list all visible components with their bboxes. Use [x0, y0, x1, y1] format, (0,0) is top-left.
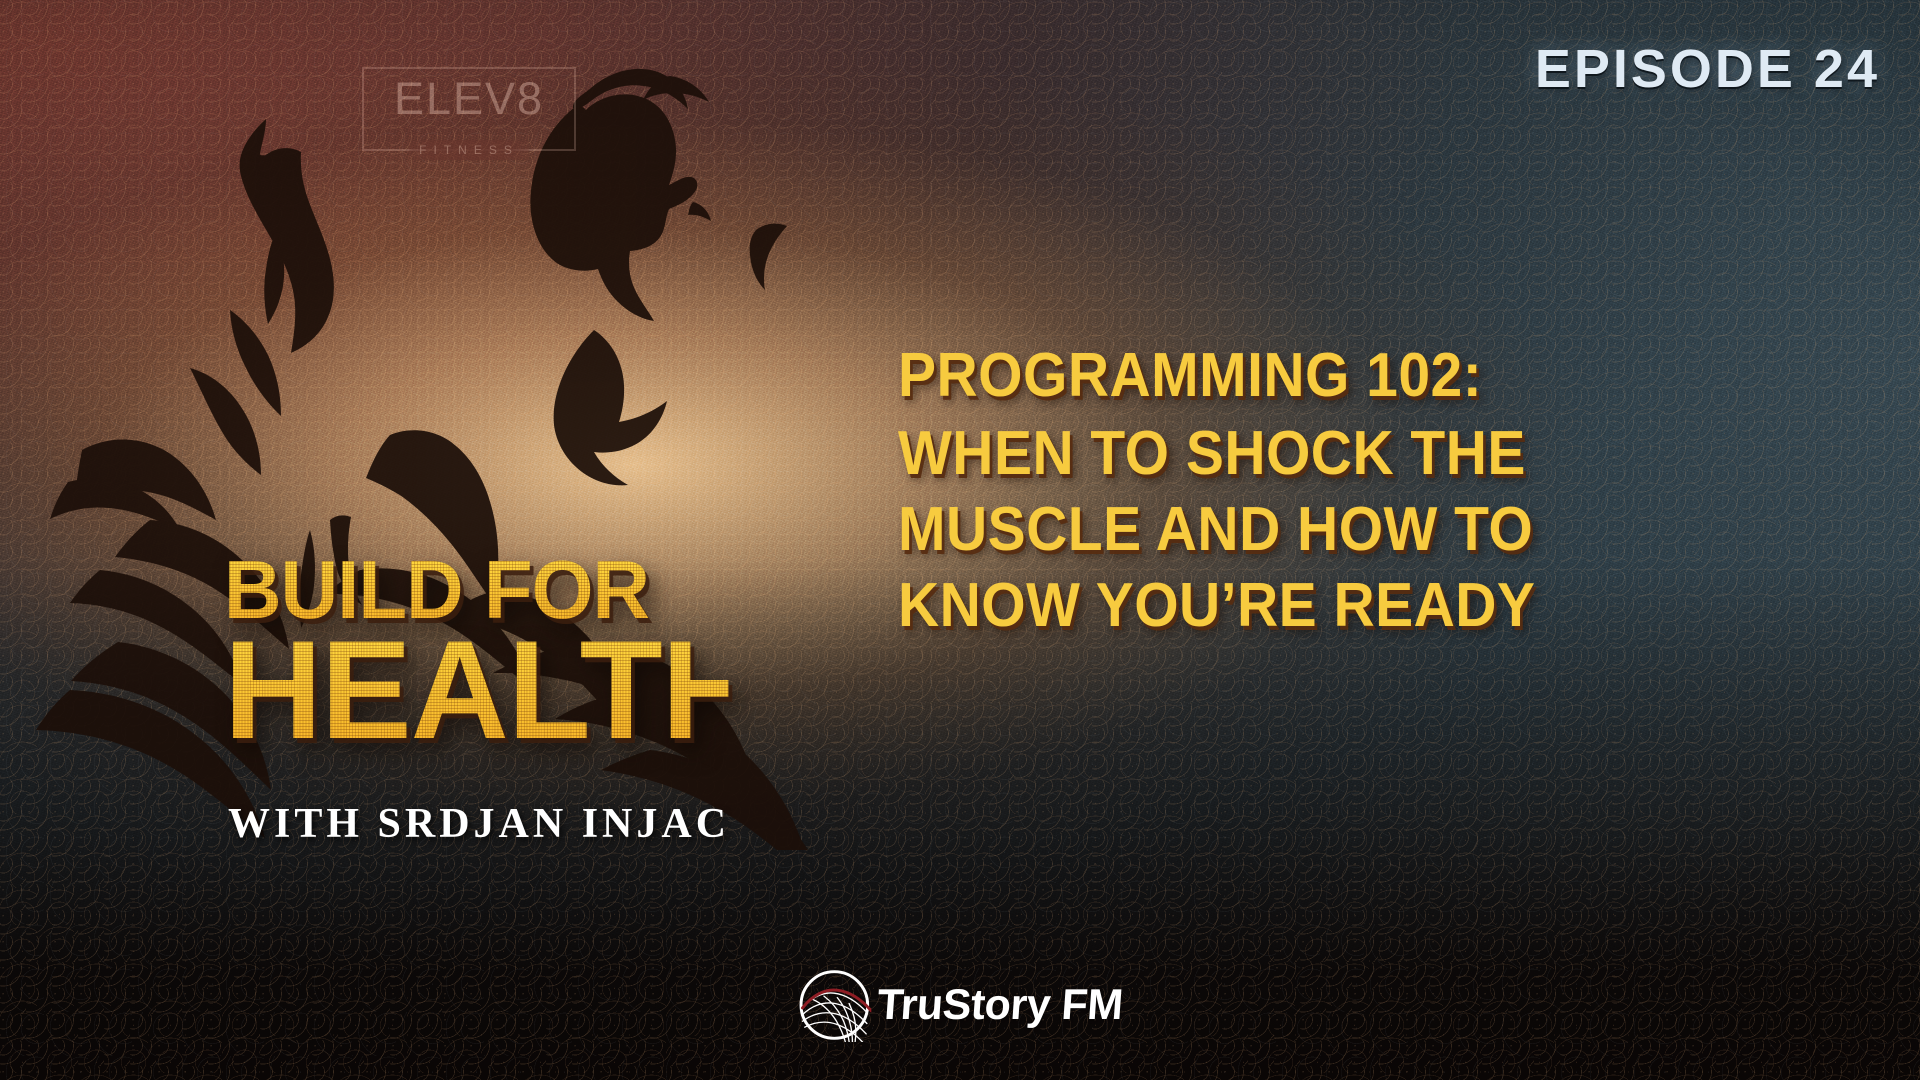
elev8-tagline-wrap: FITNESS [397, 140, 541, 160]
show-host-line: WITH SRDJAN INJAC [228, 800, 730, 848]
network-name-text: TruStory FM [876, 981, 1125, 1030]
episode-title-line-2: WHEN TO SHOCK THE [898, 423, 1790, 485]
episode-title: PROGRAMMING 102: WHEN TO SHOCK THE MUSCL… [898, 345, 1868, 651]
network-logo: TruStory FM [797, 968, 1122, 1042]
episode-title-line-3: MUSCLE AND HOW TO [898, 499, 1790, 561]
show-logo: BUILD FOR HEALTH [224, 555, 744, 748]
podcast-cover-artwork: ELEV8 FITNESS EPISODE 24 PROGRAMMING 102… [0, 0, 1920, 1080]
episode-number-badge: EPISODE 24 [1535, 38, 1880, 100]
episode-title-line-1: PROGRAMMING 102: [898, 345, 1790, 407]
elev8-brand-text: ELEV8 [364, 73, 574, 125]
wave-circle-icon [797, 968, 871, 1042]
episode-title-line-4: KNOW YOU’RE READY [898, 575, 1790, 637]
show-title-line-2: HEALTH [224, 631, 728, 749]
elev8-tagline-text: FITNESS [409, 140, 529, 160]
elev8-fitness-watermark: ELEV8 FITNESS [362, 67, 576, 151]
